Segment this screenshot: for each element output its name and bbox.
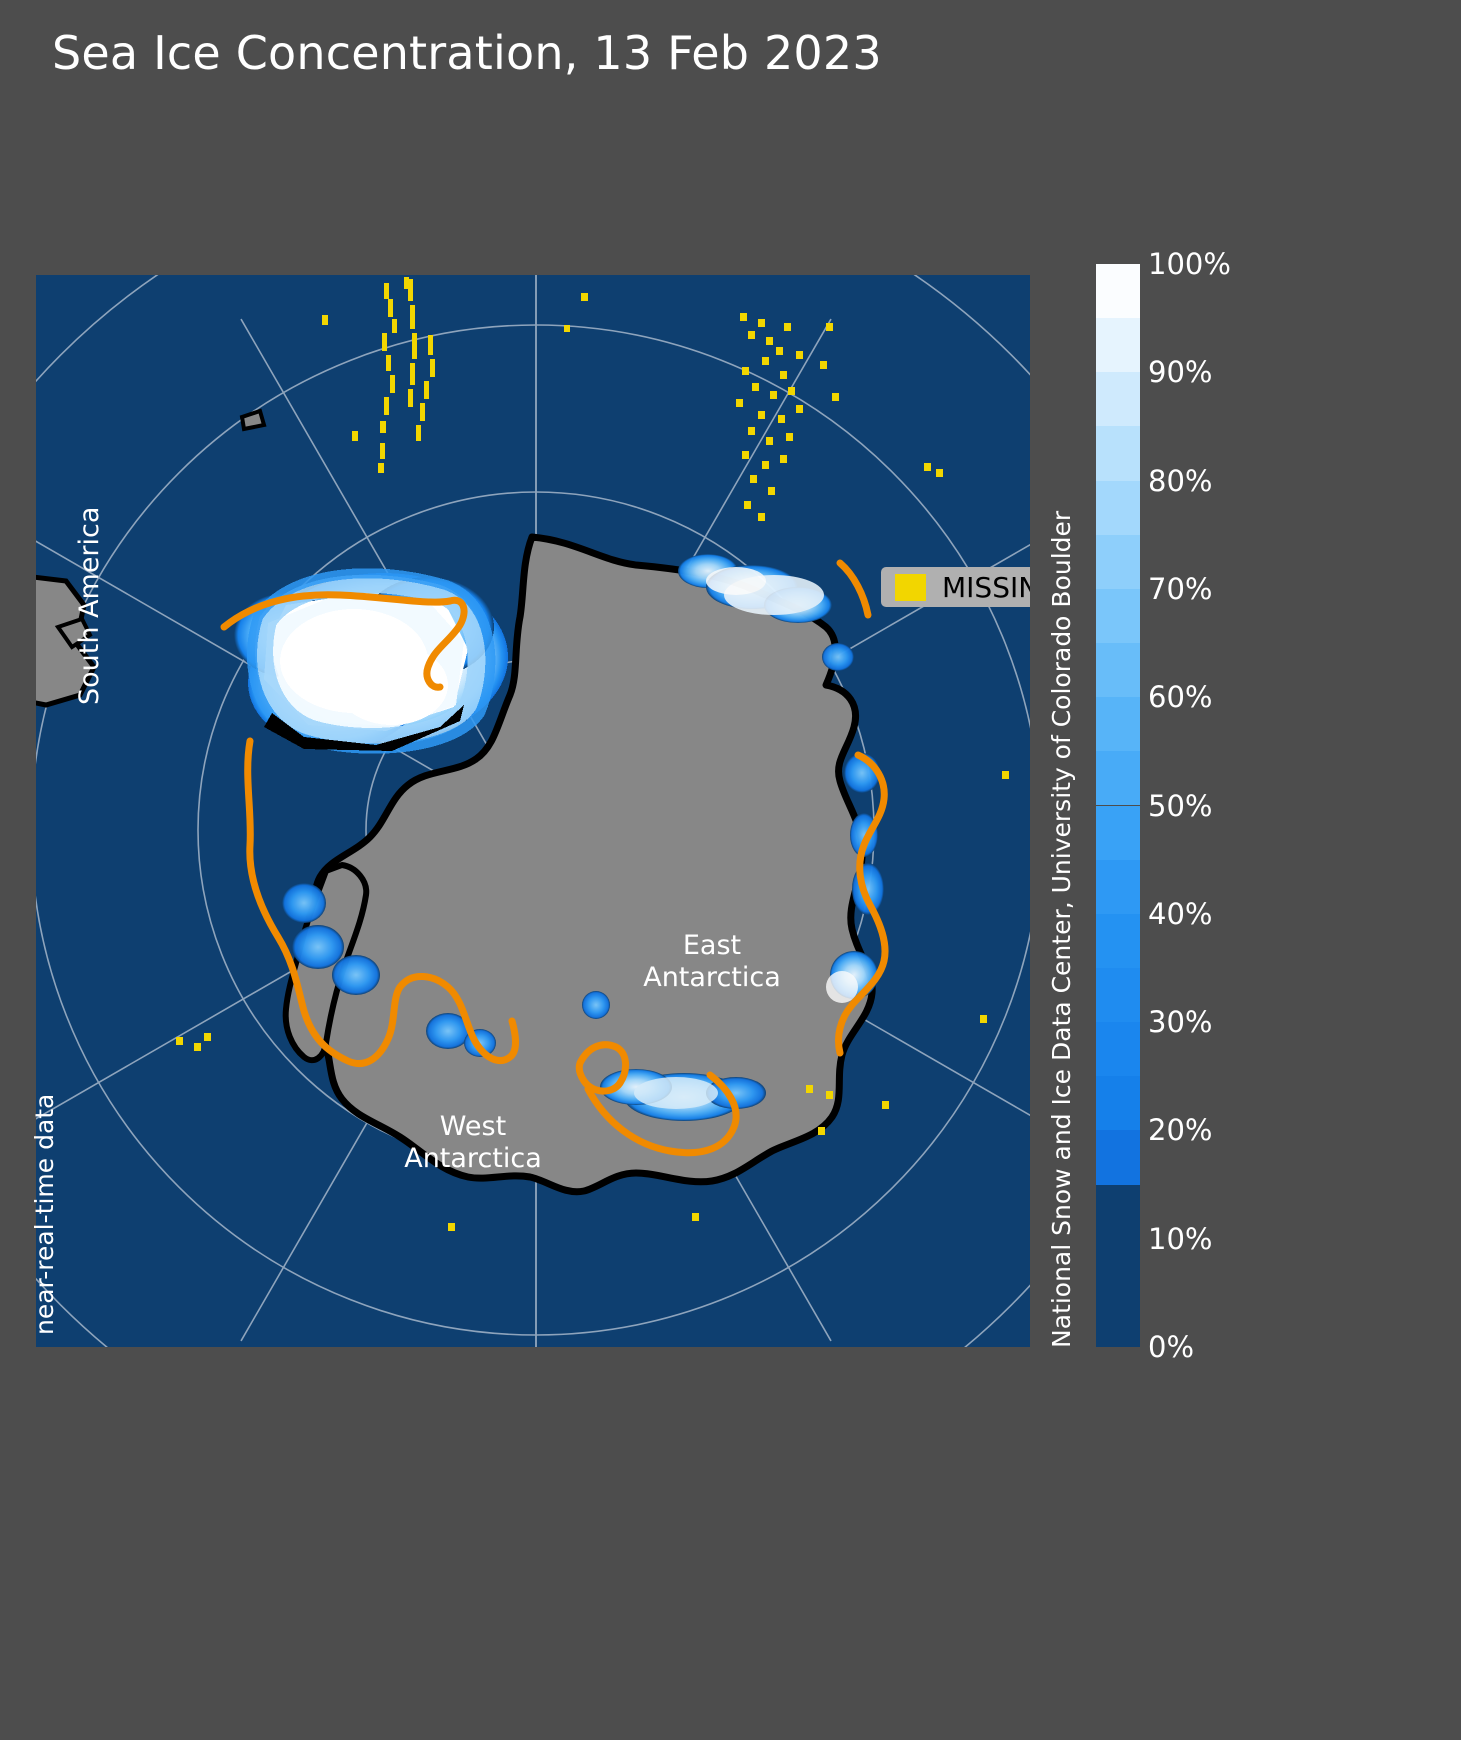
colorbar-tick: 0% xyxy=(1148,1330,1194,1364)
colorbar-tick: 80% xyxy=(1148,464,1212,498)
colorbar-band xyxy=(1096,643,1140,697)
colorbar-band xyxy=(1096,318,1140,372)
sea-ice-map xyxy=(36,275,1030,1347)
legend-missing: MISSING xyxy=(881,567,1030,607)
colorbar-band xyxy=(1096,1130,1140,1184)
colorbar-tick: 70% xyxy=(1148,572,1212,606)
colorbar-tick: 30% xyxy=(1148,1005,1212,1039)
missing-swatch-icon xyxy=(895,574,926,601)
label-south-america: South America xyxy=(74,507,105,705)
colorbar-tick: 40% xyxy=(1148,897,1212,931)
colorbar-tick-labels: 0%10%20%30%40%50%60%70%80%90%100% xyxy=(1148,264,1268,1347)
colorbar-band xyxy=(1096,1022,1140,1076)
colorbar-band xyxy=(1096,589,1140,643)
colorbar-band xyxy=(1096,968,1140,1022)
colorbar-band xyxy=(1096,426,1140,480)
colorbar-tick: 90% xyxy=(1148,355,1212,389)
colorbar xyxy=(1096,264,1140,1347)
colorbar-tick: 100% xyxy=(1148,247,1231,281)
colorbar-band xyxy=(1096,1185,1140,1347)
page-title: Sea Ice Concentration, 13 Feb 2023 xyxy=(52,26,882,80)
colorbar-band xyxy=(1096,751,1140,805)
colorbar-tick: 20% xyxy=(1148,1113,1212,1147)
colorbar-band xyxy=(1096,697,1140,751)
colorbar-tick: 50% xyxy=(1148,789,1212,823)
map-panel: East Antarctica West Antarctica MISSING … xyxy=(36,275,1030,1347)
colorbar-band xyxy=(1096,1076,1140,1130)
colorbar-band xyxy=(1096,264,1140,318)
colorbar-band xyxy=(1096,535,1140,589)
colorbar-band xyxy=(1096,806,1140,860)
colorbar-band xyxy=(1096,372,1140,426)
colorbar-tick: 60% xyxy=(1148,680,1212,714)
colorbar-band xyxy=(1096,914,1140,968)
label-near-real-time-data: near-real-time data xyxy=(30,1094,59,1335)
colorbar-gradient xyxy=(1096,264,1140,1347)
colorbar-tick: 10% xyxy=(1148,1222,1212,1256)
legend-missing-label: MISSING xyxy=(942,571,1030,604)
colorbar-band xyxy=(1096,481,1140,535)
colorbar-band xyxy=(1096,860,1140,914)
colorbar-title: National Snow and Ice Data Center, Unive… xyxy=(1047,511,1076,1348)
